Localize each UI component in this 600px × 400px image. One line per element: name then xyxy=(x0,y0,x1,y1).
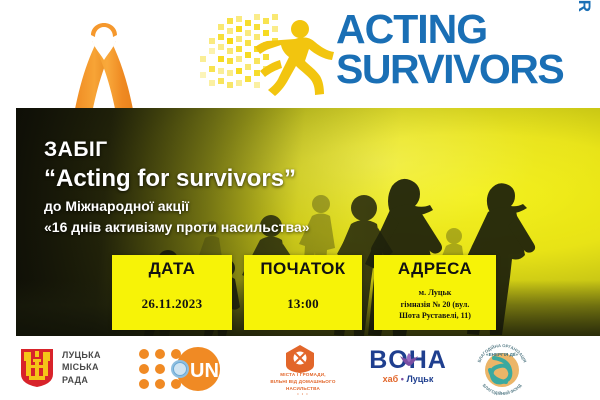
info-box-date-value: 26.11.2023 xyxy=(112,279,232,312)
vona-sub-city: Луцьк xyxy=(406,374,433,384)
headline-subtitle-2: «16 днів активізму проти насильства» xyxy=(44,219,374,236)
cities-label-line-2: ВІЛЬНІ ВІД ДОМАШНЬОГО xyxy=(258,379,348,386)
poster-root: ACTING SURVIVORS FOR xyxy=(0,0,600,400)
info-box-address-heading: АДРЕСА xyxy=(374,255,496,279)
info-box-start-value: 13:00 xyxy=(244,279,362,312)
address-line-3: Шота Руставелі, 11) xyxy=(374,310,496,322)
address-line-1: м. Луцьк xyxy=(374,287,496,299)
brand-line-1: ACTING xyxy=(336,10,487,49)
running-figure-icon xyxy=(196,12,336,98)
energy-of-action-seal-icon: БЛАГОДІЙНА ОРГАНІЗАЦІЯ БЛАГОДІЙНИЙ ФОНД … xyxy=(472,340,532,398)
logo-vona-hub: BOHA хаб • Луцьк xyxy=(356,336,460,400)
vona-sub-hub: хаб xyxy=(383,374,399,384)
brand-wordmark: ACTING SURVIVORS FOR xyxy=(336,10,594,98)
lutsk-label-line-2: МІСЬКА xyxy=(62,361,101,373)
headline-kicker: ЗАБІГ xyxy=(44,138,374,162)
info-box-date: ДАТА 26.11.2023 xyxy=(112,255,232,330)
info-box-address: АДРЕСА м. Луцьк гімназія № 20 (вул. Шота… xyxy=(374,255,496,330)
energy-seal-center: «ЕНЕРГІЯ ДІЇ» xyxy=(486,351,518,357)
logo-unfpa: UNFPA xyxy=(136,336,248,400)
brand-line-2: SURVIVORS xyxy=(336,50,563,89)
logo-energy-of-action: БЛАГОДІЙНА ОРГАНІЗАЦІЯ БЛАГОДІЙНИЙ ФОНД … xyxy=(468,336,540,400)
unfpa-logo-icon: UNFPA xyxy=(136,346,248,392)
brand-for-word: FOR xyxy=(574,0,594,12)
info-boxes: ДАТА 26.11.2023 ПОЧАТОК 13:00 АДРЕСА м. … xyxy=(0,255,600,333)
lutsk-label-line-3: РАДА xyxy=(62,374,101,386)
vona-subtitle: хаб • Луцьк xyxy=(356,374,460,384)
info-box-start: ПОЧАТОК 13:00 xyxy=(244,255,362,330)
headline-subtitle-1: до Міжнародної акції xyxy=(44,198,374,215)
poster-header: ACTING SURVIVORS FOR xyxy=(0,0,600,108)
unfpa-label: UNFPA xyxy=(190,360,248,382)
vona-sub-dot: • xyxy=(401,374,404,384)
headline-title: “Acting for survivors” xyxy=(44,165,374,193)
info-box-start-heading: ПОЧАТОК xyxy=(244,255,362,279)
logo-cities-free-from-violence: МІСТА І ГРОМАДИ, ВІЛЬНІ ВІД ДОМАШНЬОГО Н… xyxy=(258,336,348,400)
info-box-address-value: м. Луцьк гімназія № 20 (вул. Шота Рустав… xyxy=(374,279,496,322)
address-line-2: гімназія № 20 (вул. xyxy=(374,299,496,311)
cities-label-line-1: МІСТА І ГРОМАДИ, xyxy=(258,372,348,379)
footer-logo-strip: ЛУЦЬКА МІСЬКА РАДА UNFPA xyxy=(0,336,600,400)
info-box-date-heading: ДАТА xyxy=(112,255,232,279)
headline-block: ЗАБІГ “Acting for survivors” до Міжнарод… xyxy=(44,138,374,235)
cities-label: МІСТА І ГРОМАДИ, ВІЛЬНІ ВІД ДОМАШНЬОГО Н… xyxy=(258,372,348,393)
lutsk-label: ЛУЦЬКА МІСЬКА РАДА xyxy=(62,349,101,386)
lutsk-coat-of-arms-icon xyxy=(20,348,54,393)
vona-bird-icon xyxy=(398,350,420,375)
logo-lutsk-city-council: ЛУЦЬКА МІСЬКА РАДА xyxy=(16,336,128,400)
lutsk-label-line-1: ЛУЦЬКА xyxy=(62,349,101,361)
cities-label-dots: • • • xyxy=(258,391,348,396)
